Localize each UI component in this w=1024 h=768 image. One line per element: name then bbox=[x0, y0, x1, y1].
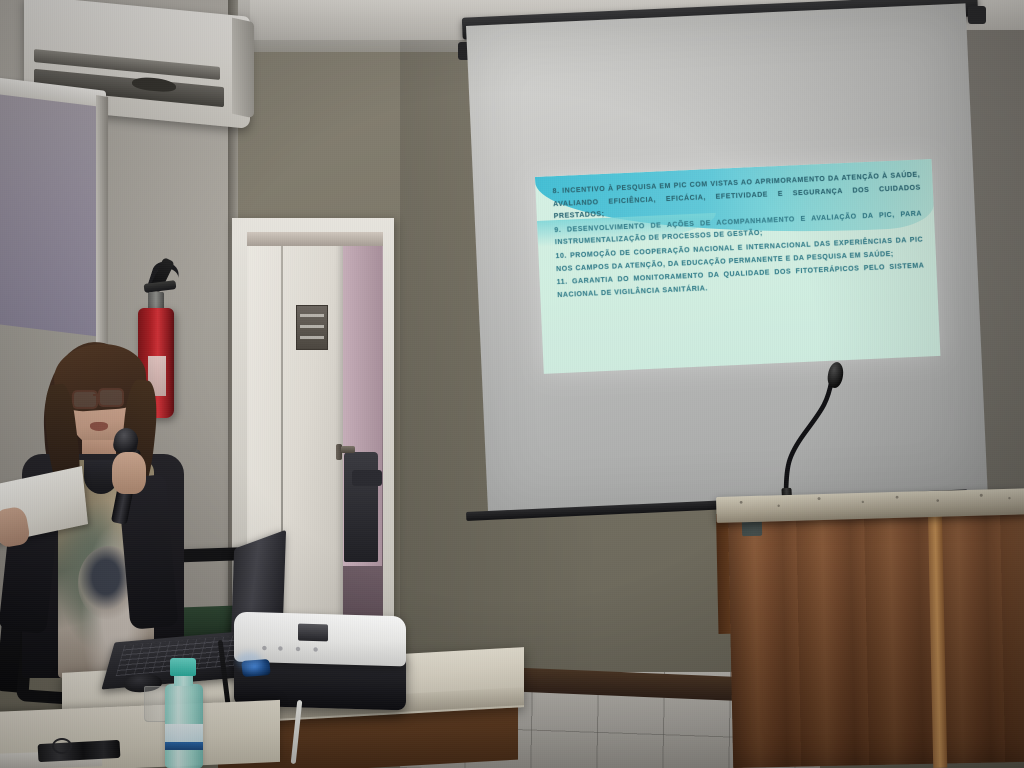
eyeglasses-right-lens bbox=[98, 388, 124, 407]
key-ring[interactable] bbox=[52, 738, 72, 754]
podium-bracket bbox=[742, 520, 762, 536]
eyeglasses-left-lens bbox=[72, 390, 98, 409]
roller-blind-edge bbox=[96, 95, 108, 347]
chair-in-corridor-seat bbox=[352, 470, 382, 486]
bottle-label-stripe bbox=[165, 742, 203, 750]
conference-room-photo: 8. INCENTIVO À PESQUISA EM PIC COM VISTA… bbox=[0, 0, 1024, 768]
door-sign-line bbox=[300, 325, 324, 328]
screen-bracket-right bbox=[968, 6, 986, 24]
door-sign-line bbox=[300, 336, 324, 339]
door-handle[interactable] bbox=[341, 446, 355, 453]
gooseneck-microphone-neck bbox=[770, 370, 850, 500]
eyeglasses-bridge bbox=[93, 394, 100, 396]
projector-logo bbox=[298, 624, 328, 642]
slide-text-body: 8. INCENTIVO À PESQUISA EM PIC COM VISTA… bbox=[552, 170, 925, 304]
door-header bbox=[247, 232, 383, 246]
chair-in-corridor bbox=[344, 452, 378, 562]
projection-screen: 8. INCENTIVO À PESQUISA EM PIC COM VISTA… bbox=[466, 3, 988, 515]
air-conditioner-side bbox=[232, 18, 254, 119]
projector-light-glow bbox=[236, 652, 262, 670]
presenter-mouth bbox=[90, 422, 108, 431]
podium bbox=[728, 510, 1024, 768]
roller-blind-fabric bbox=[0, 93, 100, 337]
bottle-cap[interactable] bbox=[170, 658, 196, 676]
projected-slide: 8. INCENTIVO À PESQUISA EM PIC COM VISTA… bbox=[535, 159, 941, 374]
door-notice-sign bbox=[296, 305, 328, 350]
door-sign-line bbox=[300, 314, 324, 317]
presenter-right-hand bbox=[112, 452, 146, 494]
